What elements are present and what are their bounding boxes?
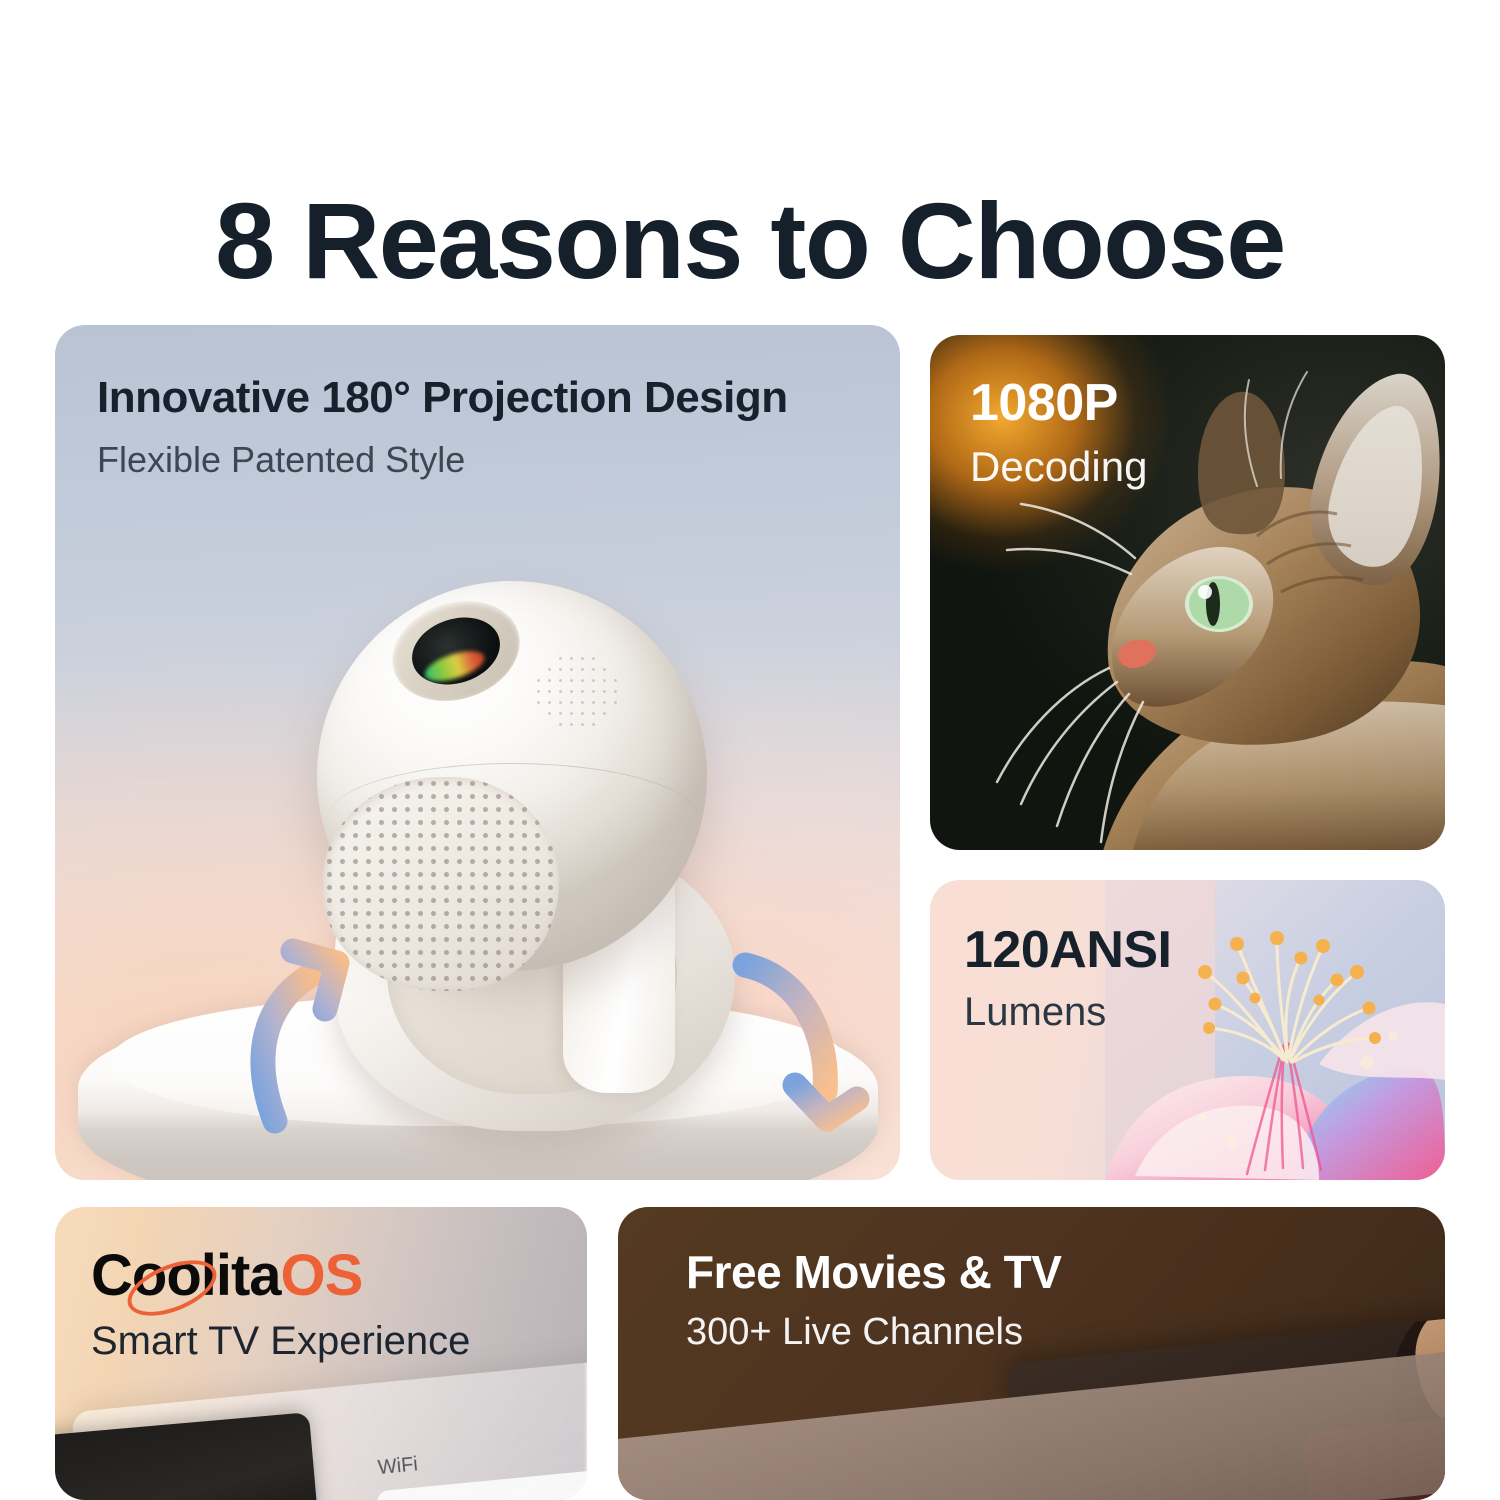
coolita-os-logo: CoolitaOS: [91, 1247, 362, 1305]
curved-arrow-down-right-icon: [723, 943, 873, 1143]
product-feature-infographic: 8 Reasons to Choose: [0, 0, 1500, 1500]
projection-card-title: Innovative 180° Projection Design: [97, 373, 788, 423]
coolita-logo-suffix: OS: [281, 1243, 363, 1308]
brightness-card-text: 120ANSI Lumens: [964, 920, 1172, 1035]
projector-lens-ring: [379, 585, 532, 716]
movies-card-title: Free Movies & TV: [686, 1245, 1061, 1299]
page-title: 8 Reasons to Choose: [0, 184, 1500, 297]
projector-sphere-body: [317, 581, 707, 971]
coolita-card-text: CoolitaOS Smart TV Experience: [91, 1247, 470, 1364]
speaker-grille-top: [533, 653, 619, 731]
projector-device-image: coocaa: [317, 581, 747, 1141]
settings-detail-label: WiFi: [377, 1453, 419, 1480]
coolita-logo-wordmark: Coolita: [91, 1243, 281, 1308]
decoding-card-title: 1080P: [970, 373, 1147, 433]
decoding-card-subtitle: Decoding: [970, 443, 1147, 491]
movies-card-subtitle: 300+ Live Channels: [686, 1311, 1061, 1354]
brightness-card-subtitle: Lumens: [964, 990, 1172, 1035]
feature-card-free-movies[interactable]: ESCAPED Free Movies & TV 300+ Live Chann…: [618, 1207, 1445, 1500]
projection-card-text: Innovative 180° Projection Design Flexib…: [97, 373, 788, 481]
feature-card-decoding[interactable]: 1080P Decoding: [930, 335, 1445, 850]
projector-lens-glass: [403, 607, 508, 696]
feature-card-projection-design[interactable]: coocaa Innovative 180° Projection Design…: [55, 325, 900, 1180]
curved-arrow-up-right-icon: [233, 923, 373, 1138]
movies-card-text: Free Movies & TV 300+ Live Channels: [686, 1245, 1061, 1354]
projection-card-subtitle: Flexible Patented Style: [97, 439, 788, 481]
coolita-card-subtitle: Smart TV Experience: [91, 1319, 470, 1364]
feature-card-coolita-os[interactable]: Settings WiFi › WiFi CoolitaOS: [55, 1207, 587, 1500]
feature-card-brightness[interactable]: 120ANSI Lumens: [930, 880, 1445, 1180]
decoding-card-text: 1080P Decoding: [970, 373, 1147, 491]
brightness-card-title: 120ANSI: [964, 920, 1172, 980]
